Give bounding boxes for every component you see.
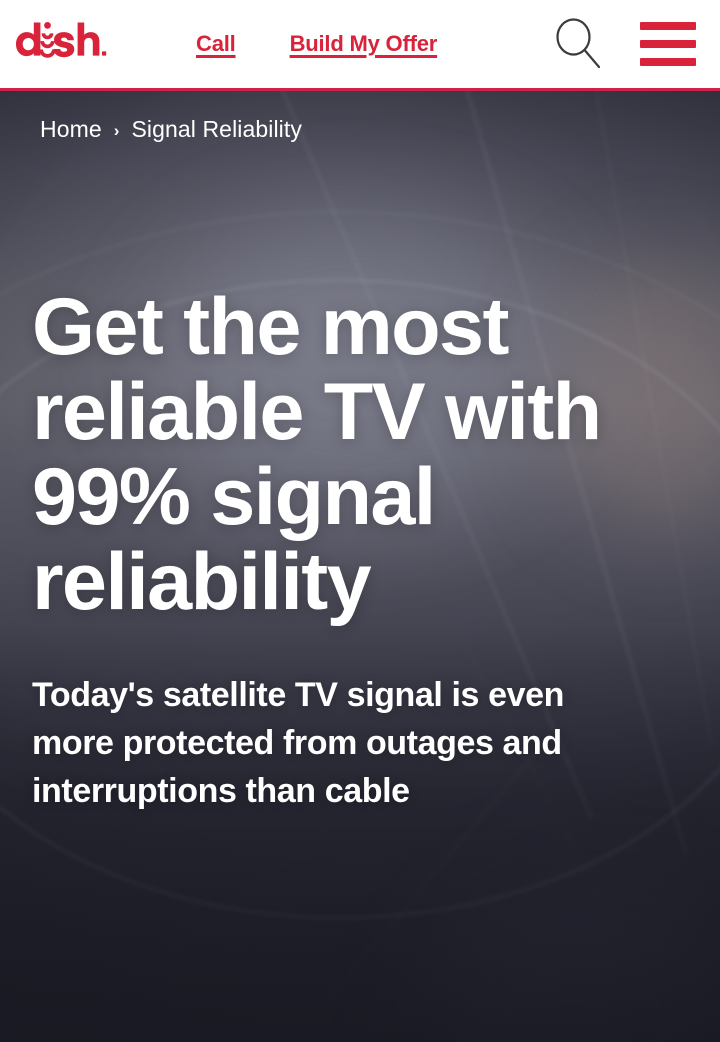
background-light-beam-e (0, 830, 326, 1042)
breadcrumb: Home › Signal Reliability (40, 91, 688, 143)
site-header: Call Build My Offer (0, 0, 720, 88)
header-divider-rule (0, 88, 720, 91)
hamburger-bar-top (640, 22, 696, 30)
breadcrumb-item-signal-reliability: Signal Reliability (131, 116, 302, 143)
hero-content: Home › Signal Reliability Get the most r… (0, 91, 720, 815)
search-icon (552, 17, 606, 71)
breadcrumb-item-home[interactable]: Home (40, 116, 102, 143)
chevron-right-icon: › (114, 122, 120, 139)
page-subtitle: Today's satellite TV signal is even more… (32, 671, 648, 815)
nav-link-build-my-offer[interactable]: Build My Offer (290, 31, 438, 57)
nav-link-call[interactable]: Call (196, 31, 236, 57)
primary-nav: Call Build My Offer (196, 31, 437, 57)
search-button[interactable] (550, 15, 608, 73)
page-root: Call Build My Offer (0, 0, 720, 1042)
dish-logo[interactable] (16, 16, 120, 72)
hamburger-bar-middle (640, 40, 696, 48)
background-glow-lower (420, 891, 720, 1042)
hamburger-menu-button[interactable] (640, 22, 696, 66)
hero-section: Home › Signal Reliability Get the most r… (0, 91, 720, 1042)
page-title: Get the most reliable TV with 99% signal… (32, 285, 678, 625)
header-actions (550, 15, 696, 73)
dish-logo-mark (16, 16, 120, 72)
hamburger-bar-bottom (640, 58, 696, 66)
